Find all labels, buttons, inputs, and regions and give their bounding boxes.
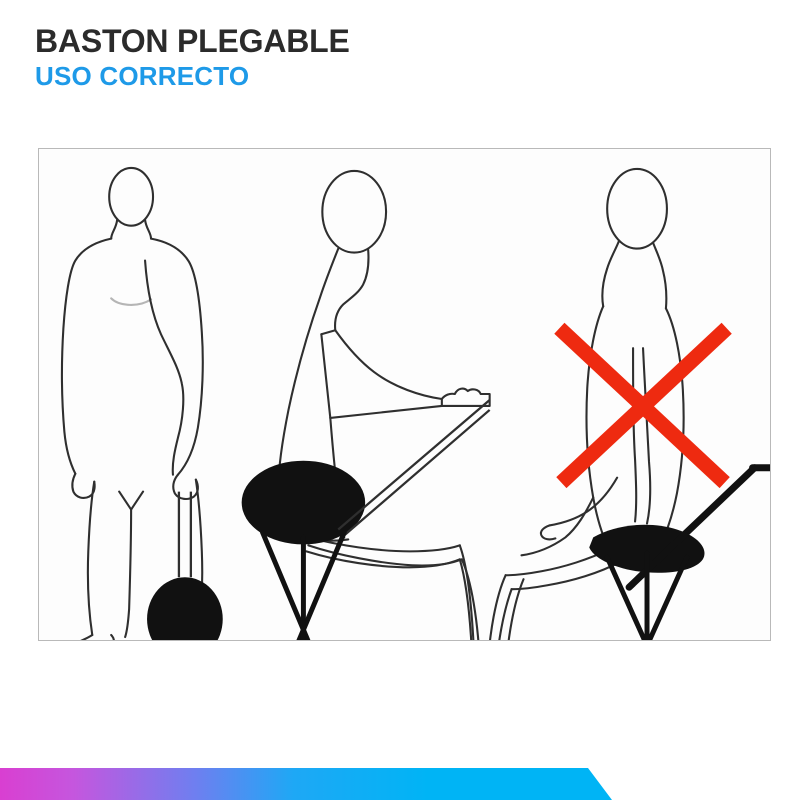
figure-standing [62,168,218,640]
left-hand-outline [72,474,94,498]
left-leg-outer [88,482,94,635]
page-header: BASTON PLEGABLE USO CORRECTO [35,24,755,91]
instructional-illustration [39,149,770,640]
crotch-line [119,492,143,510]
neck-back-line [602,241,619,307]
page-subtitle: USO CORRECTO [35,62,755,91]
cane-shaft [179,492,191,578]
illustration-panel [38,148,771,641]
folded-cane-figure-standing [147,492,223,640]
seat-folded-circle [147,577,223,640]
neck-front-line [335,250,368,331]
figure-seated-correct [278,171,498,640]
shoulder-line [321,330,335,334]
chest-contour-line [111,298,151,304]
left-arm-outline [62,239,111,474]
cane-stool-figure-seated-correct [242,400,490,640]
neck-outline [111,220,151,239]
arm-inner-line [633,348,636,521]
right-arm-inner-line [145,261,183,475]
back-line [279,249,339,486]
footer-bar-slant [0,768,612,800]
page-title: BASTON PLEGABLE [35,24,755,59]
upper-arm-line [335,330,442,399]
hand-grip-outline [442,389,490,406]
head-outline [322,171,386,253]
cane-upright-bar-inner [344,410,489,535]
footer-accent-bar [0,766,800,800]
hip-line [522,498,594,556]
footer-gradient-shape [0,766,800,800]
shin-front-line [486,575,506,640]
inner-leg-line [125,510,131,637]
neck-front-line [653,243,666,309]
cane-upright-bar [338,400,489,529]
back-contour [587,306,610,549]
right-hand-outline [173,475,198,499]
head-outline [607,169,667,249]
forearm-underside [330,406,442,418]
head-outline [109,168,153,226]
hand-outline [541,525,555,539]
forearm-line [549,478,617,526]
tripod-legs [259,532,349,640]
torso-front-line [321,334,330,418]
cane-stool-figure-seated-incorrect [589,468,770,640]
left-foot-outline [73,635,114,640]
arm-outer-line [643,348,650,523]
